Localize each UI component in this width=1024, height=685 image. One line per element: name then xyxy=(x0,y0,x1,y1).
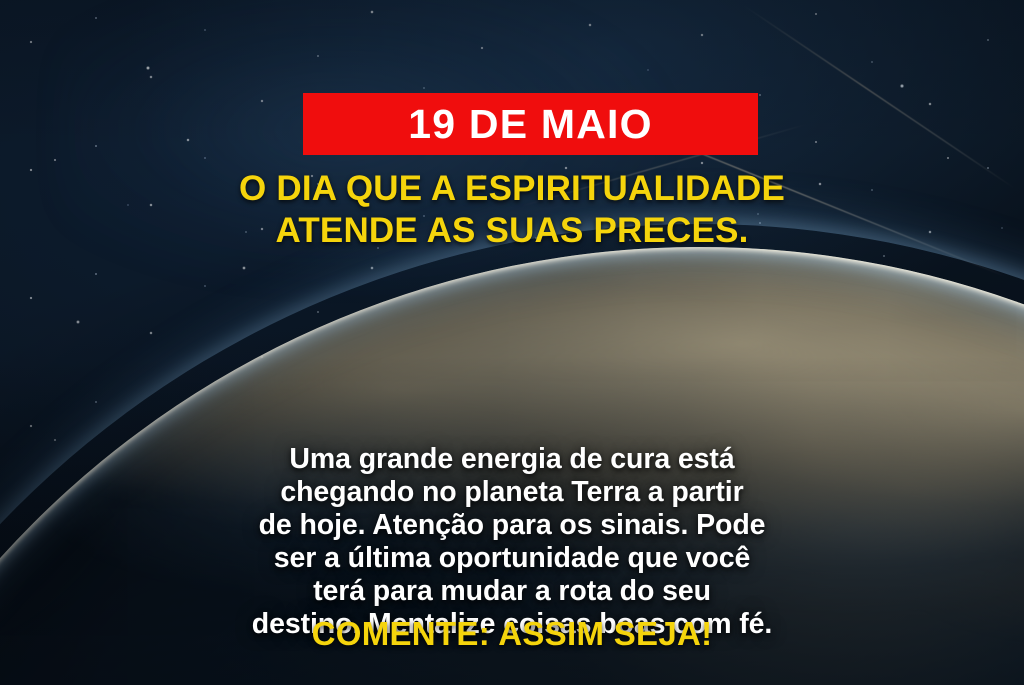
date-banner-label: 19 DE MAIO xyxy=(408,104,652,145)
poster-canvas: 19 DE MAIO O DIA QUE A ESPIRITUALIDADE A… xyxy=(0,0,1024,685)
call-to-action: COMENTE: ASSIM SEJA! xyxy=(0,615,1024,653)
headline: O DIA QUE A ESPIRITUALIDADE ATENDE AS SU… xyxy=(0,168,1024,252)
body-line-4: ser a última oportunidade que você xyxy=(0,542,1024,575)
call-to-action-label: COMENTE: ASSIM SEJA! xyxy=(312,615,713,652)
poster-content: 19 DE MAIO O DIA QUE A ESPIRITUALIDADE A… xyxy=(0,0,1024,685)
headline-line-2: ATENDE AS SUAS PRECES. xyxy=(0,210,1024,252)
body-line-1: Uma grande energia de cura está xyxy=(0,443,1024,476)
body-line-5: terá para mudar a rota do seu xyxy=(0,575,1024,608)
body-line-3: de hoje. Atenção para os sinais. Pode xyxy=(0,509,1024,542)
body-paragraph: Uma grande energia de cura está chegando… xyxy=(0,443,1024,641)
headline-line-1: O DIA QUE A ESPIRITUALIDADE xyxy=(0,168,1024,210)
body-line-2: chegando no planeta Terra a partir xyxy=(0,476,1024,509)
date-banner: 19 DE MAIO xyxy=(303,93,758,155)
